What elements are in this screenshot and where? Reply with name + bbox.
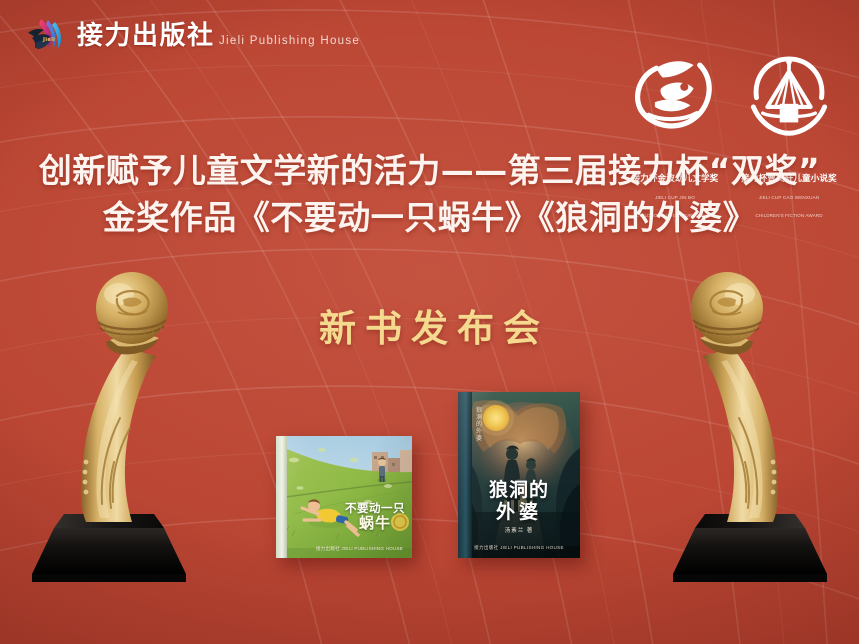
book-cover-wolf-icon[interactable]: 狼洞的外婆 狼洞的 外婆 汤素兰 著 接力出版社 JIELI PUBLISHIN… [458,392,580,558]
jieli-brush-swoosh-logo-icon: Jieli [24,16,68,54]
snail-cover-title: 不要动一只 蜗牛 [345,502,405,532]
svg-text:Jieli: Jieli [42,37,55,43]
poster-canvas: Jieli 接力出版社 Jieli Publishing House [0,0,859,644]
snail-cover-artwork [276,436,412,558]
brand-name-cn: 接力出版社 [77,21,215,51]
book-spine-snail [276,436,287,558]
title-line-2: 金奖作品《不要动一只蜗牛》《狼洞的外婆》 [0,195,859,242]
wolf-title-line-2: 外婆 [458,503,580,522]
golden-wave-bird-emblem-icon [627,18,723,168]
book-face-wolf: 狼洞的外婆 狼洞的 外婆 汤素兰 著 接力出版社 JIELI PUBLISHIN… [458,392,580,558]
award-emblem-jinbo: 接力杯金波幼儿文学奖 JIELI CUP JIN BO CHILDHOOD LI… [627,18,723,168]
wolf-title-line-1: 狼洞的 [458,481,580,500]
book-face-snail: 不要动一只 蜗牛 接力出版社 JIELI PUBLISHING HOUSE [276,436,412,558]
wolf-cover-author: 汤素兰 著 [458,526,580,534]
award-emblems: 接力杯金波幼儿文学奖 JIELI CUP JIN BO CHILDHOOD LI… [627,18,837,168]
wolf-cover-title: 狼洞的 外婆 [458,481,580,522]
snail-title-line-2: 蜗牛 [345,516,405,532]
book-cover-snail-icon[interactable]: 不要动一只 蜗牛 接力出版社 JIELI PUBLISHING HOUSE [276,436,412,558]
title-line-1: 创新赋予儿童文学新的活力——第三届接力杯“双奖” [0,148,859,195]
poster-title-block: 创新赋予儿童文学新的活力——第三届接力杯“双奖” 金奖作品《不要动一只蜗牛》《狼… [0,148,859,242]
circus-tent-laurel-emblem-icon [741,18,837,168]
award-emblem-caowenxuan: 接力杯曹文轩儿童小说奖 JIELI CUP CAO WENXUAN CHILDR… [741,18,837,168]
brand-text-block: 接力出版社 Jieli Publishing House [77,21,360,49]
poster-header: Jieli 接力出版社 Jieli Publishing House [0,0,859,130]
snail-cover-publisher: 接力出版社 JIELI PUBLISHING HOUSE [316,546,403,552]
snail-title-line-1: 不要动一只 [345,502,405,514]
wolf-cover-publisher: 接力出版社 JIELI PUBLISHING HOUSE [458,545,580,551]
book-covers: 不要动一只 蜗牛 接力出版社 JIELI PUBLISHING HOUSE [0,368,859,558]
publisher-brand: Jieli 接力出版社 Jieli Publishing House [24,16,360,54]
wolf-cover-spine-text: 狼洞的外婆 [476,408,487,442]
brand-name-en: Jieli Publishing House [219,35,360,47]
